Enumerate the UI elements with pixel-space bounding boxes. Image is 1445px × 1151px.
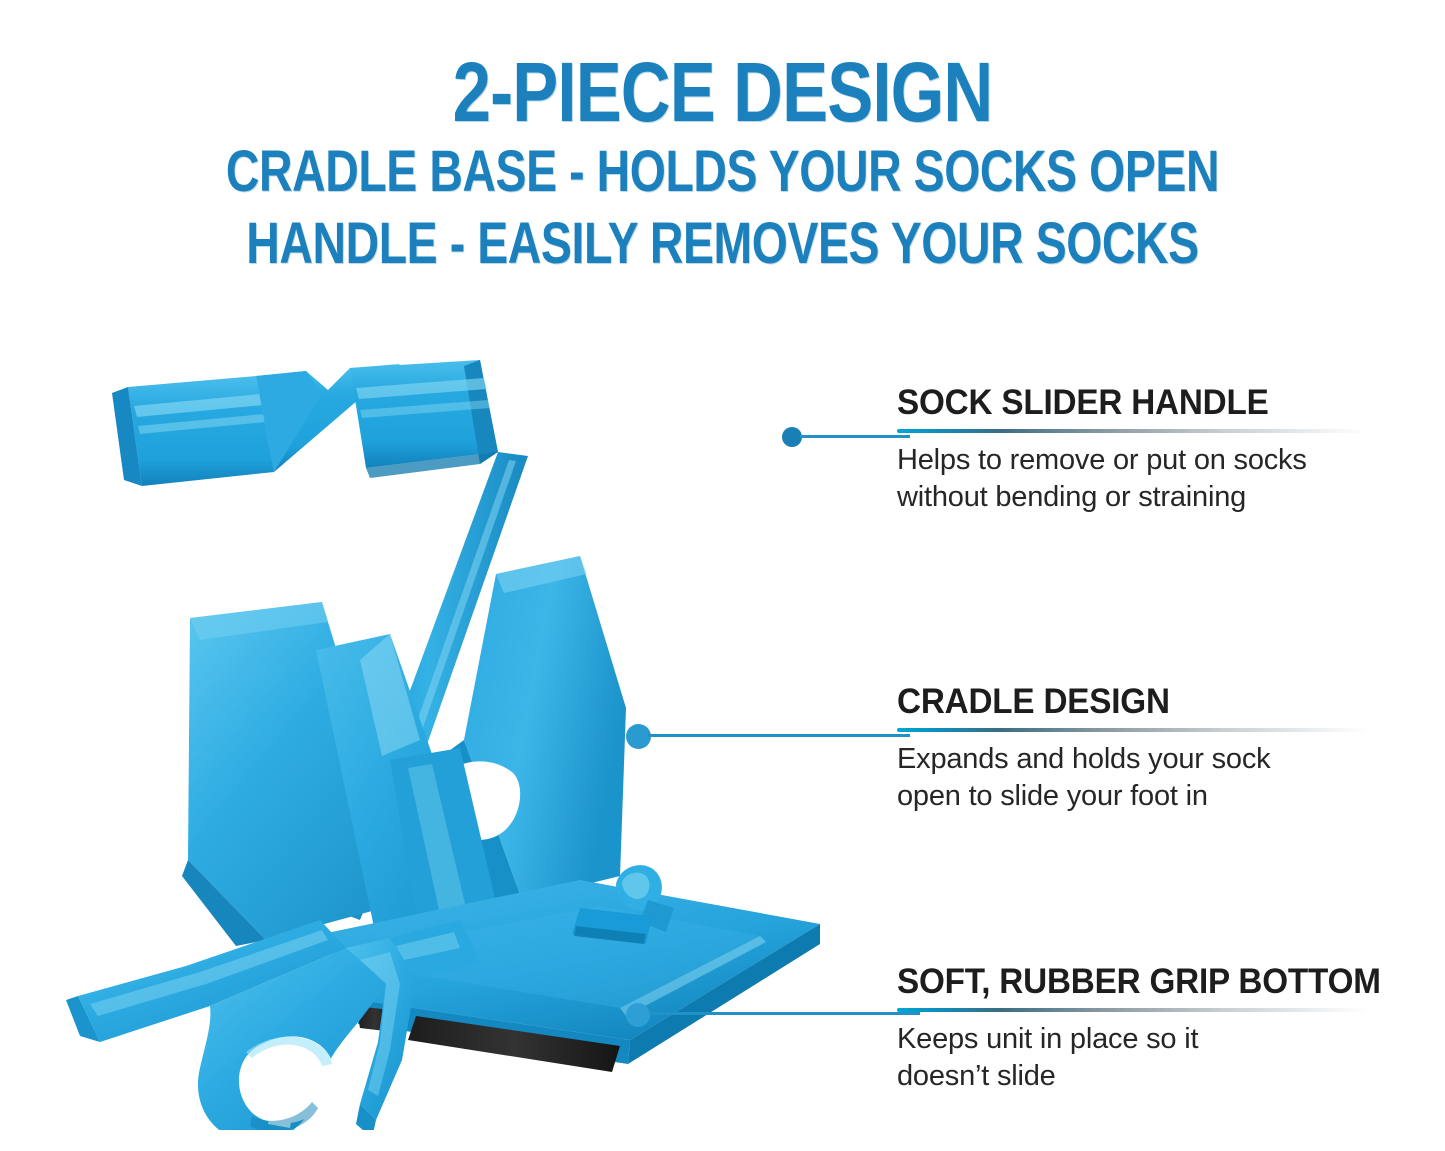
- callout-body-sock-slider-handle: Helps to remove or put on socks without …: [897, 442, 1367, 516]
- callout-title-rubber-grip-bottom: SOFT, RUBBER GRIP BOTTOM: [897, 962, 1344, 1002]
- callout-body-line: Expands and holds your sock: [897, 741, 1367, 778]
- callout-body-rubber-grip-bottom: Keeps unit in place so it doesn’t slide: [897, 1021, 1367, 1095]
- subtitle-handle: HANDLE - EASILY REMOVES YOUR SOCKS: [145, 212, 1301, 275]
- page-title: 2-PIECE DESIGN: [130, 44, 1315, 140]
- callout-title-sock-slider-handle: SOCK SLIDER HANDLE: [897, 383, 1344, 423]
- callout-cradle-design: CRADLE DESIGN Expands and holds your soc…: [897, 682, 1367, 815]
- callout-divider: [897, 1008, 1367, 1012]
- leader-dot-grip: [626, 1003, 650, 1027]
- leader-stroke-grip: [650, 1012, 920, 1015]
- callout-body-line: Helps to remove or put on socks: [897, 442, 1367, 479]
- subtitle-cradle-base: CRADLE BASE - HOLDS YOUR SOCKS OPEN: [145, 140, 1301, 203]
- callout-sock-slider-handle: SOCK SLIDER HANDLE Helps to remove or pu…: [897, 383, 1367, 516]
- callout-body-line: Keeps unit in place so it: [897, 1021, 1367, 1058]
- callout-divider: [897, 728, 1367, 732]
- callout-body-line: open to slide your foot in: [897, 778, 1367, 815]
- leader-dot-handle: [782, 427, 802, 447]
- leader-stroke-handle: [800, 435, 910, 438]
- callout-body-cradle-design: Expands and holds your sock open to slid…: [897, 741, 1367, 815]
- callout-divider: [897, 429, 1367, 433]
- callout-rubber-grip-bottom: SOFT, RUBBER GRIP BOTTOM Keeps unit in p…: [897, 962, 1367, 1095]
- callout-title-cradle-design: CRADLE DESIGN: [897, 682, 1344, 722]
- callout-body-line: without bending or straining: [897, 479, 1367, 516]
- infographic-header: 2-PIECE DESIGN CRADLE BASE - HOLDS YOUR …: [0, 0, 1445, 275]
- callout-body-line: doesn’t slide: [897, 1058, 1367, 1095]
- leader-stroke-cradle: [648, 734, 910, 737]
